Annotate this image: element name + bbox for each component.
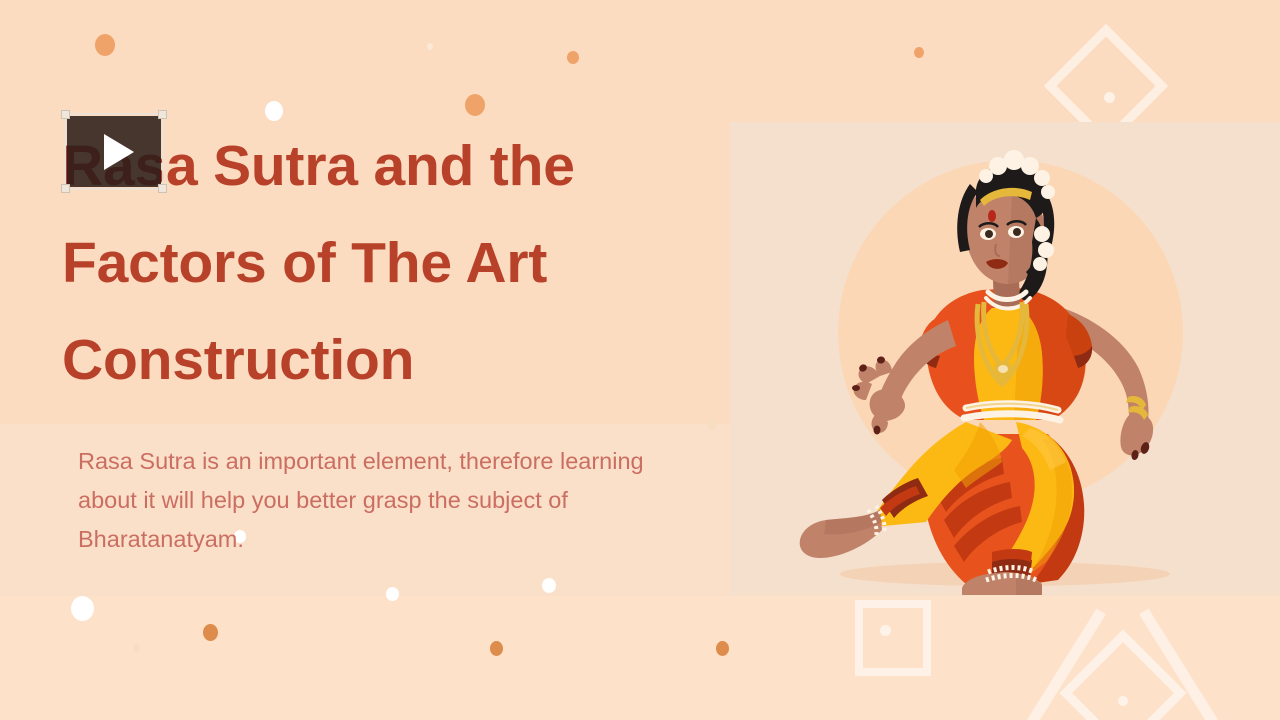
- confetti-dot: [914, 47, 924, 58]
- bharatanatyam-dancer-illustration: [730, 122, 1280, 595]
- confetti-dot: [386, 587, 399, 601]
- confetti-dot: [427, 43, 433, 50]
- play-icon[interactable]: [104, 134, 134, 170]
- confetti-dot: [567, 51, 579, 64]
- presentation-slide: Rasa Sutra and the Factors of The Art Co…: [0, 0, 1280, 720]
- confetti-dot: [707, 419, 717, 430]
- resize-handle-bottom-right[interactable]: [158, 184, 167, 193]
- resize-handle-bottom-left[interactable]: [61, 184, 70, 193]
- confetti-dot: [542, 578, 556, 593]
- confetti-dot: [95, 34, 115, 56]
- confetti-dot: [490, 641, 503, 656]
- slide-subtitle: Rasa Sutra is an important element, ther…: [78, 442, 688, 559]
- confetti-dot: [716, 641, 729, 656]
- video-play-overlay[interactable]: [64, 113, 164, 190]
- confetti-dot: [465, 94, 485, 116]
- resize-handle-top-right[interactable]: [158, 110, 167, 119]
- confetti-dot: [203, 624, 218, 641]
- confetti-dot: [71, 596, 94, 621]
- background-band-bottom: [0, 596, 1280, 720]
- resize-handle-top-left[interactable]: [61, 110, 70, 119]
- confetti-dot: [133, 644, 140, 652]
- illustration-panel: [730, 122, 1280, 595]
